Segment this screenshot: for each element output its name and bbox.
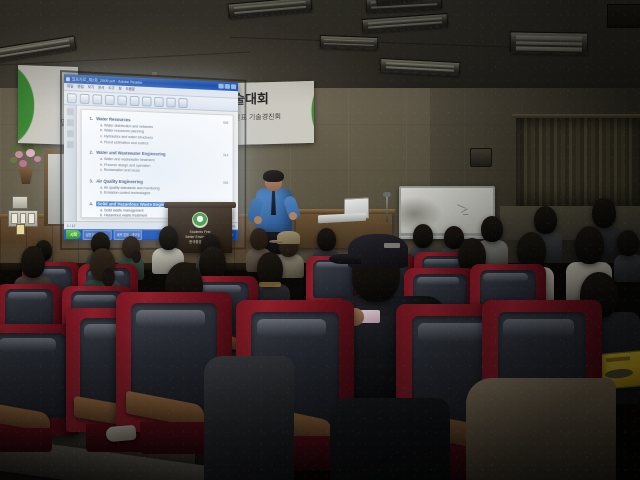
section-title: Water Resources [96, 116, 130, 122]
baseball-cap [348, 234, 408, 268]
page-indicator: 1 / 12 [67, 224, 75, 228]
search-icon[interactable] [178, 98, 187, 108]
document-section: 2.Water and Wastewater Engineering014 a.… [89, 150, 227, 176]
audience-member-foreground [330, 398, 450, 480]
menu-item-document[interactable]: 문서 [98, 86, 104, 91]
banner-right: 술대회 발표 기술경진회 [228, 81, 314, 145]
document-section: 3.Air Quality Engineering026 a. Air qual… [89, 179, 227, 199]
minimize-icon[interactable] [218, 84, 223, 89]
power-outlet[interactable] [16, 224, 25, 235]
start-button[interactable]: 시작 [66, 230, 81, 239]
save-icon[interactable] [92, 94, 102, 104]
audience-member-foreground [466, 378, 616, 480]
open-icon[interactable] [67, 93, 77, 103]
menu-item-tools[interactable]: 도구 [108, 86, 114, 91]
ceiling-air-vent [607, 4, 640, 28]
bucket-hat [277, 231, 300, 244]
print-icon[interactable] [80, 93, 90, 103]
shoe [105, 425, 136, 443]
microphone-stand [386, 196, 388, 222]
previous-page-icon[interactable] [154, 97, 163, 107]
window-curtain[interactable] [516, 118, 640, 210]
ceiling-light-fixture [510, 31, 588, 54]
hand-tool-icon[interactable] [105, 94, 115, 104]
conference-hall-photo: 2 일시 술대회 발표 기술경진회 발표자료_제2회_2009.pdf - Ad… [0, 0, 640, 480]
section-page: 026 [223, 181, 227, 185]
navigation-sidebar[interactable] [64, 105, 77, 221]
pages-icon[interactable] [66, 119, 73, 126]
section-number: 2. [89, 150, 96, 155]
menu-item-edit[interactable]: 편집 [77, 85, 83, 90]
menu-item-view[interactable]: 보기 [88, 85, 94, 90]
next-page-icon[interactable] [166, 97, 175, 107]
audience-member-foreground [204, 330, 294, 480]
select-tool-icon[interactable] [117, 95, 127, 105]
wall-control-panel[interactable] [12, 196, 28, 209]
necklace [259, 282, 281, 287]
attachments-icon[interactable] [66, 141, 73, 148]
menu-item-window[interactable]: 창 [119, 87, 122, 92]
institution-seal-icon [192, 212, 208, 228]
app-icon [66, 77, 70, 81]
section-page: 014 [223, 154, 227, 158]
zoom-in-icon[interactable] [142, 96, 151, 106]
microphone-icon [383, 192, 391, 197]
menu-item-help[interactable]: 도움말 [125, 87, 134, 92]
ceiling-light-fixture [320, 35, 378, 50]
menu-item-file[interactable]: 파일 [67, 84, 74, 89]
section-number: 1. [89, 116, 96, 121]
ponytail [102, 268, 115, 287]
wall-speaker [470, 148, 492, 167]
flower-arrangement [6, 142, 46, 190]
section-item: b. Emission control technologies [100, 191, 227, 198]
section-number: 3. [89, 179, 96, 184]
section-number: 4. [89, 201, 96, 206]
document-section: 1.Water Resources003 a. Water distributi… [89, 116, 227, 149]
maximize-icon[interactable] [225, 84, 230, 89]
ponytail [132, 250, 141, 263]
bookmarks-icon[interactable] [66, 108, 73, 115]
window-controls[interactable] [218, 84, 236, 90]
section-page: 003 [223, 121, 227, 125]
layers-icon[interactable] [66, 130, 73, 137]
zoom-out-icon[interactable] [130, 95, 139, 105]
section-title: Air Quality Engineering [96, 179, 143, 185]
close-icon[interactable] [231, 84, 236, 89]
